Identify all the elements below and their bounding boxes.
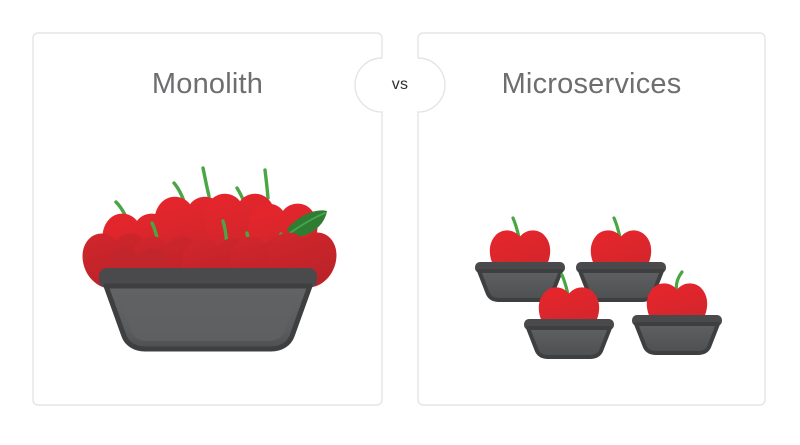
bowl-body <box>528 328 610 357</box>
bowl-body <box>636 324 718 353</box>
microservices-card[interactable] <box>418 33 765 405</box>
bowl-highlight <box>116 292 300 341</box>
illustration-canvas: Monolith Microservices vs <box>0 0 800 445</box>
monolith-vs-microservices-illustration <box>0 0 800 445</box>
monolith-bowl <box>99 268 317 349</box>
monolith-card[interactable] <box>33 33 382 405</box>
